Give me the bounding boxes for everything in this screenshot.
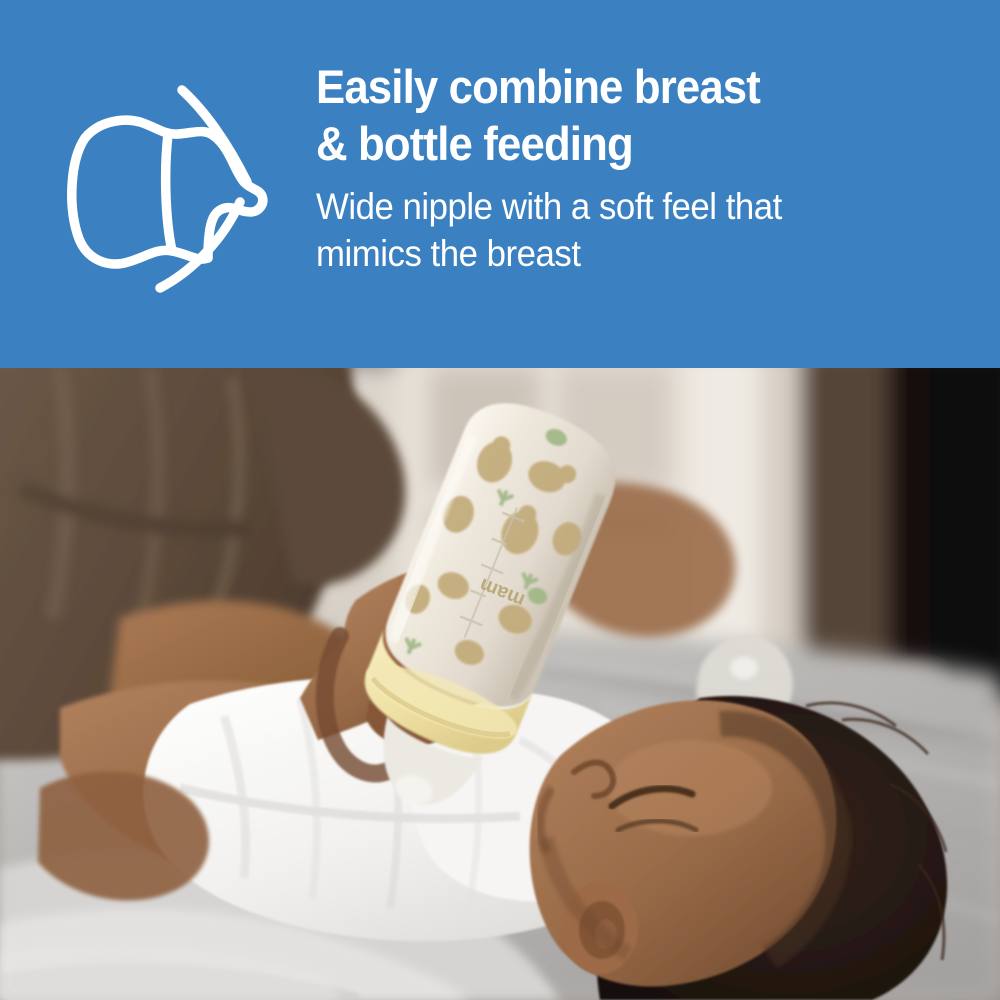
- banner-copy: Easily combine breast & bottle feeding W…: [316, 58, 976, 277]
- breast-feeding-outline-icon: [48, 78, 268, 303]
- headline: Easily combine breast & bottle feeding: [316, 58, 930, 172]
- baby-bottle-feeding-photo: mam: [0, 368, 1000, 1000]
- subheadline: Wide nipple with a soft feel that mimics…: [316, 183, 936, 277]
- feature-banner: Easily combine breast & bottle feeding W…: [0, 0, 1000, 368]
- product-feature-banner: Easily combine breast & bottle feeding W…: [0, 0, 1000, 1000]
